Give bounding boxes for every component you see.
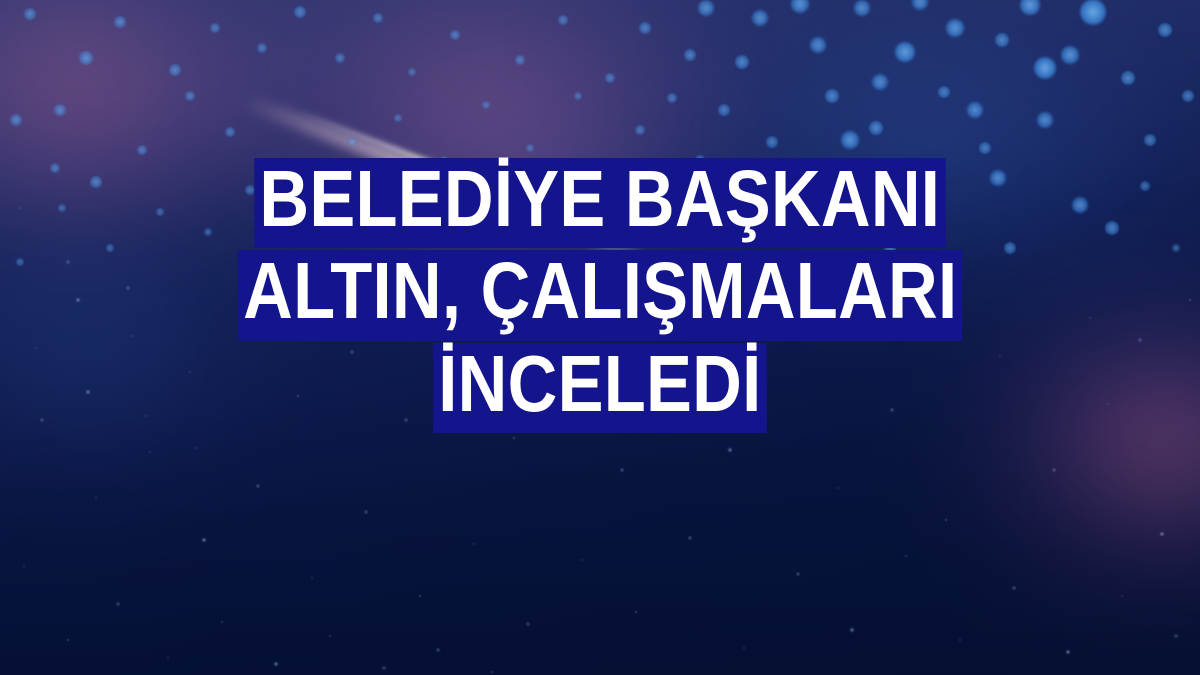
news-thumbnail-card: BELEDİYE BAŞKANI ALTIN, ÇALIŞMALARI İNCE… [0,0,1200,675]
headline-line-2-text: ALTIN, ÇALIŞMALARI [238,250,963,340]
headline-block: BELEDİYE BAŞKANI ALTIN, ÇALIŞMALARI İNCE… [0,158,1200,433]
headline-line-3: İNCELEDİ [0,343,1200,433]
headline-line-1-text: BELEDİYE BAŞKANI [254,158,945,248]
headline-line-3-text: İNCELEDİ [433,343,766,433]
headline-line-1: BELEDİYE BAŞKANI [0,158,1200,248]
headline-line-2: ALTIN, ÇALIŞMALARI [0,250,1200,340]
